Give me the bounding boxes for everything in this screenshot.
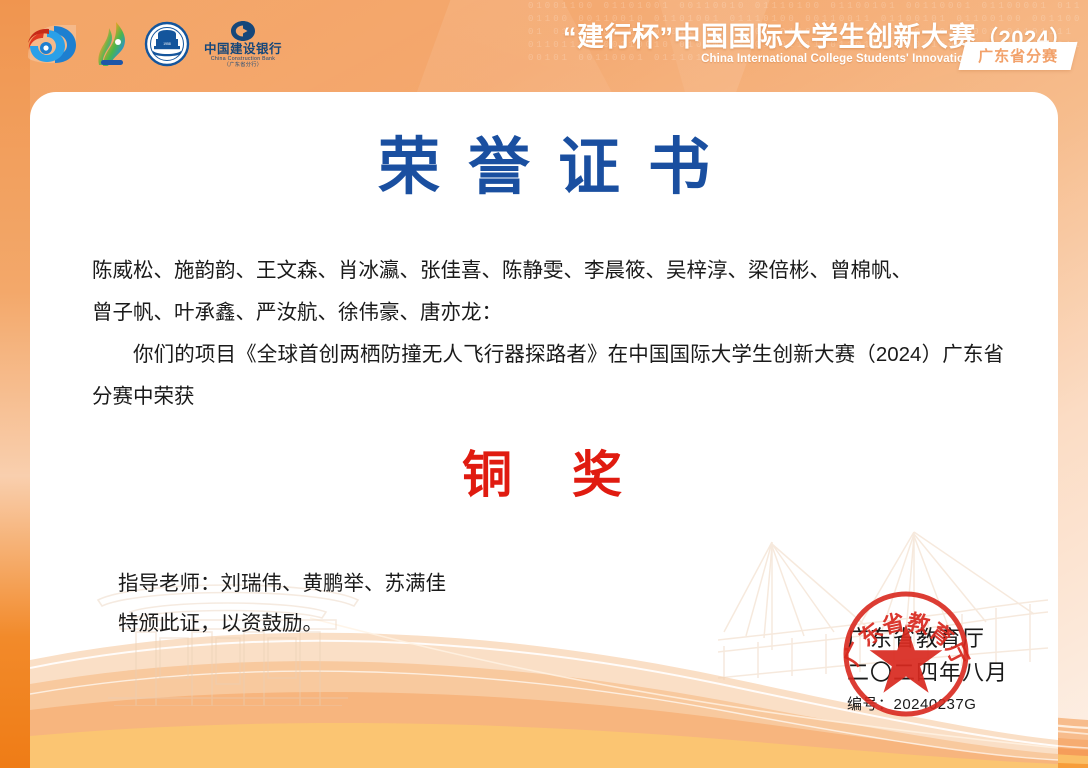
svg-text:1958: 1958 (163, 42, 171, 46)
ccb-branch: （广东省分行） (224, 63, 262, 68)
page-title: 荣誉证书 (30, 136, 1058, 198)
teachers-block: 指导老师：刘瑞伟、黄鹏举、苏满佳 特颁此证，以资鼓励。 (118, 564, 446, 644)
ccb-mark-icon (228, 20, 258, 42)
competition-title-cn-main: “建行杯”中国国际大学生创新大赛 (563, 22, 976, 52)
certificate-page: 01001100 01101001 00110010 01110100 0110… (0, 0, 1088, 768)
official-seal: 广东省教育厅 (830, 578, 982, 730)
flame-bird-logo (96, 20, 130, 68)
teachers-line: 指导老师：刘瑞伟、黄鹏举、苏满佳 (118, 564, 446, 604)
citation-text: 你们的项目《全球首创两栖防撞无人飞行器探路者》在中国国际大学生创新大赛（2024… (92, 334, 1004, 418)
region-badge-label: 广东省分赛 (978, 45, 1058, 66)
award-char-second: 奖 (572, 447, 626, 503)
region-badge: 广东省分赛 (958, 42, 1077, 70)
ccb-logo: 中国建设银行 China Construction Bank （广东省分行） (204, 20, 282, 68)
award-char-first: 铜 (462, 447, 516, 503)
recipients-line-1: 陈威松、施韵韵、王文森、肖冰瀛、张佳喜、陈静雯、李晨筱、吴梓淳、梁倍彬、曾棉帆、 (92, 250, 1004, 292)
recipients-line-2: 曾子帆、叶承鑫、严汝航、徐伟豪、唐亦龙： (92, 292, 1004, 334)
ccb-name-cn: 中国建设银行 (204, 43, 282, 56)
certificate-body: 陈威松、施韵韵、王文森、肖冰瀛、张佳喜、陈静雯、李晨筱、吴梓淳、梁倍彬、曾棉帆、… (92, 250, 1004, 418)
award-level: 铜奖 (30, 450, 1058, 500)
page-header: 1958 中国建设银行 China Construction Bank （广东省… (0, 0, 1088, 92)
competition-wave-logo (24, 21, 82, 67)
closing-line: 特颁此证，以资鼓励。 (118, 604, 446, 644)
logo-row: 1958 中国建设银行 China Construction Bank （广东省… (24, 20, 282, 68)
certificate-card: 荣誉证书 陈威松、施韵韵、王文森、肖冰瀛、张佳喜、陈静雯、李晨筱、吴梓淳、梁倍彬… (30, 92, 1058, 768)
university-seal-logo: 1958 (144, 21, 190, 67)
ccb-name-en: China Construction Bank (211, 57, 275, 62)
